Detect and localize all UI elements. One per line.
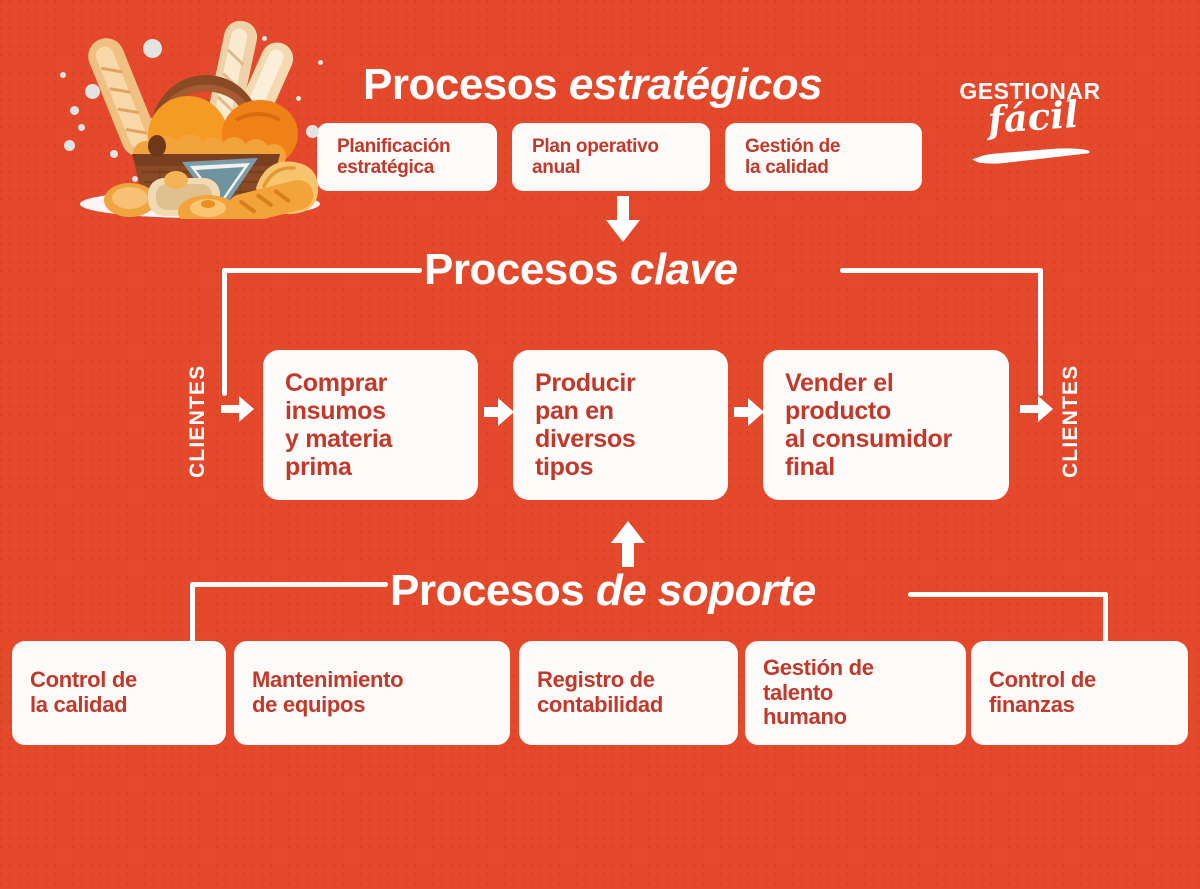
key-title-bold: Procesos: [424, 245, 630, 294]
support-box-label: Gestión de talento humano: [745, 656, 874, 730]
key-box-vender-producto[interactable]: Vender el producto al consumidor final: [763, 350, 1009, 500]
support-box-label: Mantenimiento de equipos: [234, 668, 403, 717]
strategic-box-gestion-calidad[interactable]: Gestión de la calidad: [725, 123, 922, 191]
key-section-title: Procesos clave: [424, 245, 737, 295]
strategic-section-title: Procesos estratégicos: [363, 60, 822, 110]
key-box-label: Vender el producto al consumidor final: [763, 369, 952, 481]
strategic-title-bold: Procesos: [363, 60, 569, 109]
arrow-between-key-1-2: [484, 398, 514, 426]
key-box-label: Comprar insumos y materia prima: [263, 369, 392, 481]
logo-swash-underline: [972, 146, 1091, 166]
support-box-mantenimiento[interactable]: Mantenimiento de equipos: [234, 641, 510, 745]
arrow-between-key-2-3: [734, 398, 764, 426]
support-title-bold: Procesos: [390, 566, 596, 615]
support-box-registro-contabilidad[interactable]: Registro de contabilidad: [519, 641, 738, 745]
bread-basket-illustration: [60, 14, 340, 219]
support-box-label: Control de la calidad: [12, 668, 137, 717]
strategic-box-label: Plan operativo anual: [512, 136, 659, 179]
support-box-control-calidad[interactable]: Control de la calidad: [12, 641, 226, 745]
support-bracket-left-horizontal: [190, 582, 388, 587]
arrow-key-to-clientes: [1020, 395, 1053, 423]
strategic-title-italic: estratégicos: [569, 60, 822, 109]
infographic-canvas: GESTIONAR fácil Procesos estratégicos Pl…: [0, 0, 1200, 889]
arrow-down-strategic-to-key: [603, 196, 643, 242]
support-box-control-finanzas[interactable]: Control de finanzas: [971, 641, 1188, 745]
key-bracket-right-vertical: [1038, 268, 1043, 396]
key-bracket-right-horizontal: [840, 268, 1043, 273]
support-bracket-right-horizontal: [908, 592, 1108, 597]
support-box-label: Registro de contabilidad: [519, 668, 663, 717]
clientes-label-left: CLIENTES: [186, 365, 210, 478]
strategic-box-label: Gestión de la calidad: [725, 136, 840, 179]
support-section-title: Procesos de soporte: [390, 566, 816, 616]
key-bracket-left-horizontal: [222, 268, 422, 273]
key-bracket-left-vertical: [222, 268, 227, 396]
strategic-box-plan-operativo[interactable]: Plan operativo anual: [512, 123, 710, 191]
key-box-producir-pan[interactable]: Producir pan en diversos tipos: [513, 350, 728, 500]
key-box-label: Producir pan en diversos tipos: [513, 369, 635, 481]
support-bracket-right-vertical: [1103, 592, 1108, 644]
arrow-clientes-to-key: [221, 395, 254, 423]
brand-logo: GESTIONAR fácil: [950, 80, 1110, 156]
support-bracket-left-vertical: [190, 582, 195, 644]
key-box-comprar-insumos[interactable]: Comprar insumos y materia prima: [263, 350, 478, 500]
clientes-label-right: CLIENTES: [1059, 365, 1083, 478]
support-box-gestion-talento[interactable]: Gestión de talento humano: [745, 641, 966, 745]
support-box-label: Control de finanzas: [971, 668, 1096, 717]
arrow-up-support-to-key: [608, 521, 648, 567]
support-title-italic: de soporte: [596, 566, 816, 615]
key-title-italic: clave: [630, 245, 738, 294]
strategic-box-planificacion[interactable]: Planificación estratégica: [317, 123, 497, 191]
